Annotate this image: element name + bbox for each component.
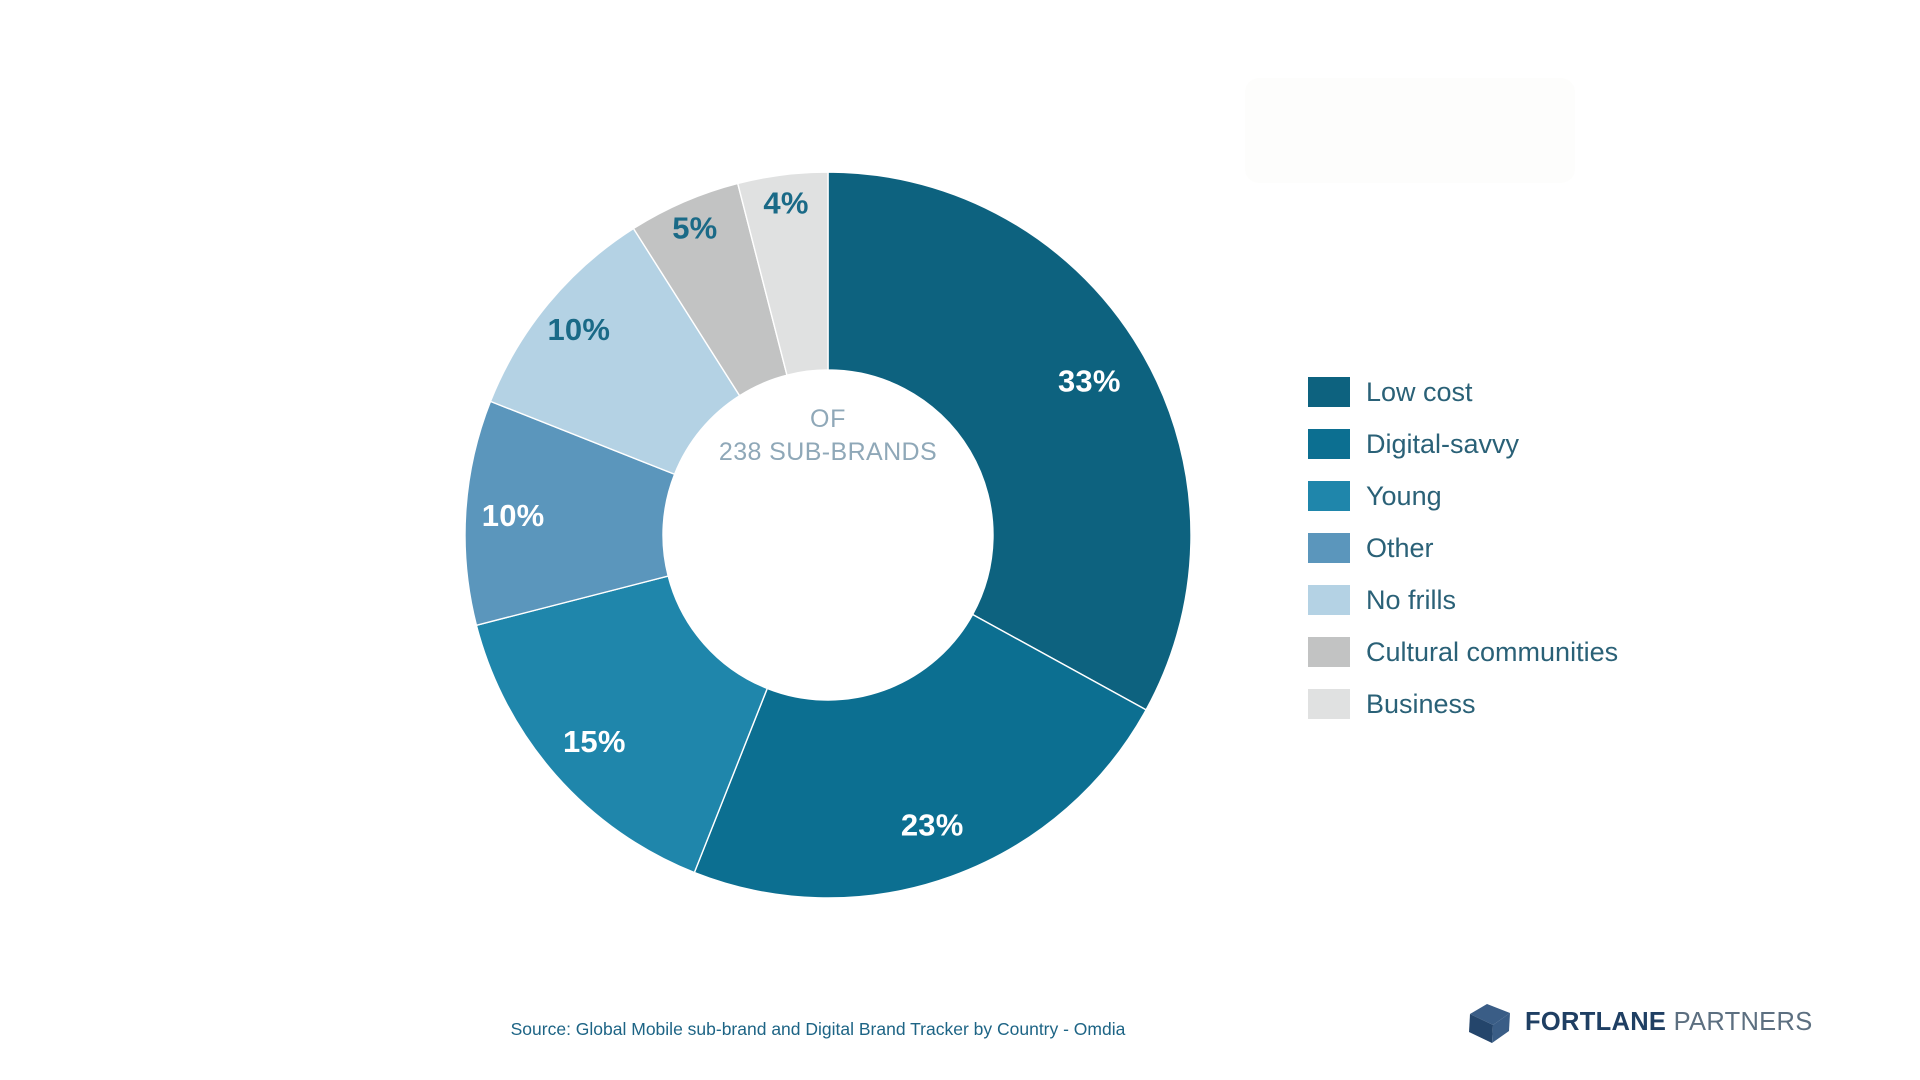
legend-swatch-low-cost: [1308, 377, 1350, 407]
legend-swatch-business: [1308, 689, 1350, 719]
donut-chart: 33%23%15%10%10%5%4% OF 238 SUB-BRANDS: [458, 165, 1198, 905]
legend-label-no-frills: No frills: [1366, 587, 1456, 614]
legend-item-digital-savvy[interactable]: Digital-savvy: [1308, 418, 1778, 470]
fortlane-partners-logo: FORTLANE PARTNERS: [1466, 1000, 1813, 1046]
donut-center-line-1: OF: [810, 405, 846, 433]
legend-label-other: Other: [1366, 535, 1434, 562]
slide-canvas: 33%23%15%10%10%5%4% OF 238 SUB-BRANDS Lo…: [0, 0, 1920, 1080]
legend-swatch-young: [1308, 481, 1350, 511]
donut-label-other: 10%: [482, 498, 545, 533]
logo-wordmark: FORTLANE PARTNERS: [1525, 1010, 1813, 1036]
legend-label-low-cost: Low cost: [1366, 379, 1473, 406]
legend-item-cultural-communities[interactable]: Cultural communities: [1308, 626, 1778, 678]
legend-item-low-cost[interactable]: Low cost: [1308, 366, 1778, 418]
legend-label-digital-savvy: Digital-savvy: [1366, 431, 1519, 458]
donut-label-digital-savvy: 23%: [901, 807, 964, 842]
donut-label-cultural-communities: 5%: [672, 210, 717, 245]
legend-swatch-digital-savvy: [1308, 429, 1350, 459]
legend-item-other[interactable]: Other: [1308, 522, 1778, 574]
donut-label-business: 4%: [763, 185, 808, 220]
legend-label-cultural-communities: Cultural communities: [1366, 639, 1618, 666]
legend-item-business[interactable]: Business: [1308, 678, 1778, 730]
logo-word-strong: FORTLANE: [1525, 1008, 1666, 1036]
cube-logo-icon: [1466, 1000, 1514, 1046]
legend-swatch-cultural-communities: [1308, 637, 1350, 667]
donut-slices: [465, 172, 1191, 898]
source-note: Source: Global Mobile sub-brand and Digi…: [458, 1019, 1178, 1040]
legend-item-no-frills[interactable]: No frills: [1308, 574, 1778, 626]
donut-label-no-frills: 10%: [547, 312, 610, 347]
donut-label-low-cost: 33%: [1058, 364, 1121, 399]
chart-legend: Low costDigital-savvyYoungOtherNo frills…: [1308, 366, 1778, 730]
donut-chart-svg: 33%23%15%10%10%5%4% OF 238 SUB-BRANDS: [458, 165, 1198, 905]
watermark: [1245, 78, 1575, 183]
legend-label-young: Young: [1366, 483, 1442, 510]
legend-label-business: Business: [1366, 691, 1476, 718]
legend-swatch-other: [1308, 533, 1350, 563]
donut-center-line-2: 238 SUB-BRANDS: [719, 438, 937, 466]
logo-word-light: PARTNERS: [1666, 1008, 1812, 1036]
legend-item-young[interactable]: Young: [1308, 470, 1778, 522]
donut-label-young: 15%: [563, 724, 626, 759]
legend-swatch-no-frills: [1308, 585, 1350, 615]
